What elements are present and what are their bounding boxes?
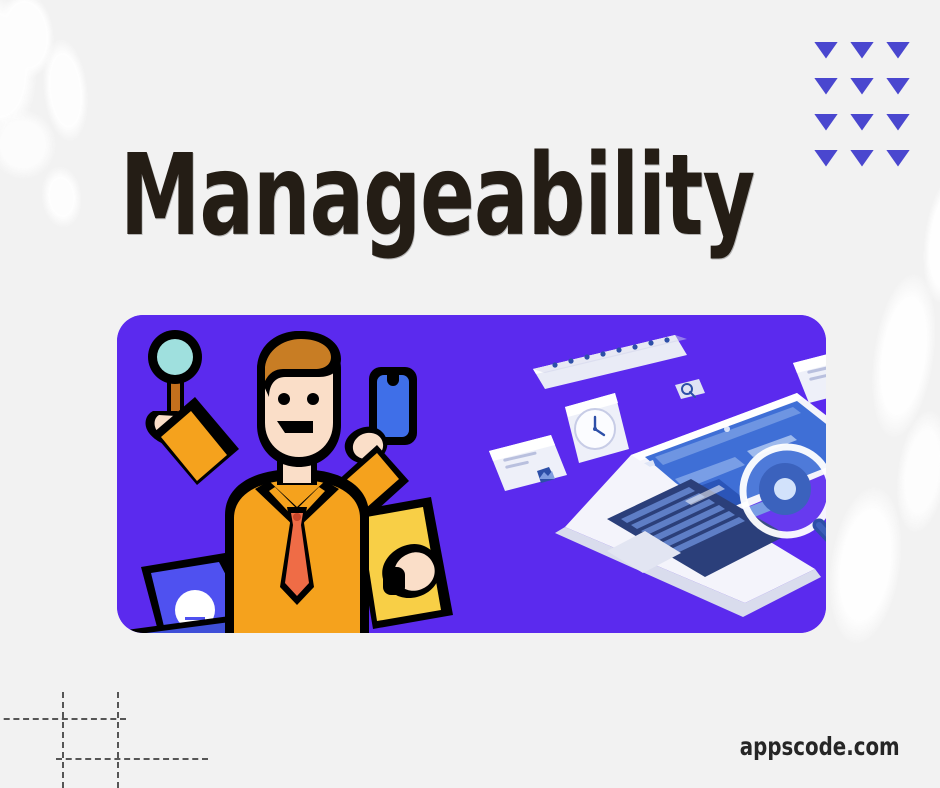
triangle-down-icon bbox=[814, 42, 838, 59]
triangle-down-icon bbox=[886, 114, 910, 131]
triangle-down-icon bbox=[814, 150, 838, 167]
brand-footer: appscode.com bbox=[740, 732, 900, 761]
manageability-illustration bbox=[117, 315, 826, 633]
triangle-down-icon bbox=[814, 114, 838, 131]
triangle-down-icon bbox=[850, 114, 874, 131]
triangle-down-icon bbox=[886, 150, 910, 167]
poster-canvas: Manageability bbox=[0, 0, 940, 788]
illustration-card bbox=[117, 315, 826, 633]
page-title: Manageability bbox=[120, 140, 754, 252]
triangle-down-icon bbox=[886, 78, 910, 95]
dashed-line-vertical bbox=[117, 692, 119, 788]
triangle-grid bbox=[808, 32, 916, 176]
dashed-line-vertical bbox=[62, 692, 64, 788]
triangle-down-icon bbox=[850, 78, 874, 95]
dashed-grid bbox=[0, 648, 210, 788]
triangle-down-icon bbox=[850, 150, 874, 167]
triangle-down-icon bbox=[886, 42, 910, 59]
triangle-down-icon bbox=[814, 78, 838, 95]
triangle-down-icon bbox=[850, 42, 874, 59]
dashed-line-horizontal bbox=[56, 758, 208, 760]
